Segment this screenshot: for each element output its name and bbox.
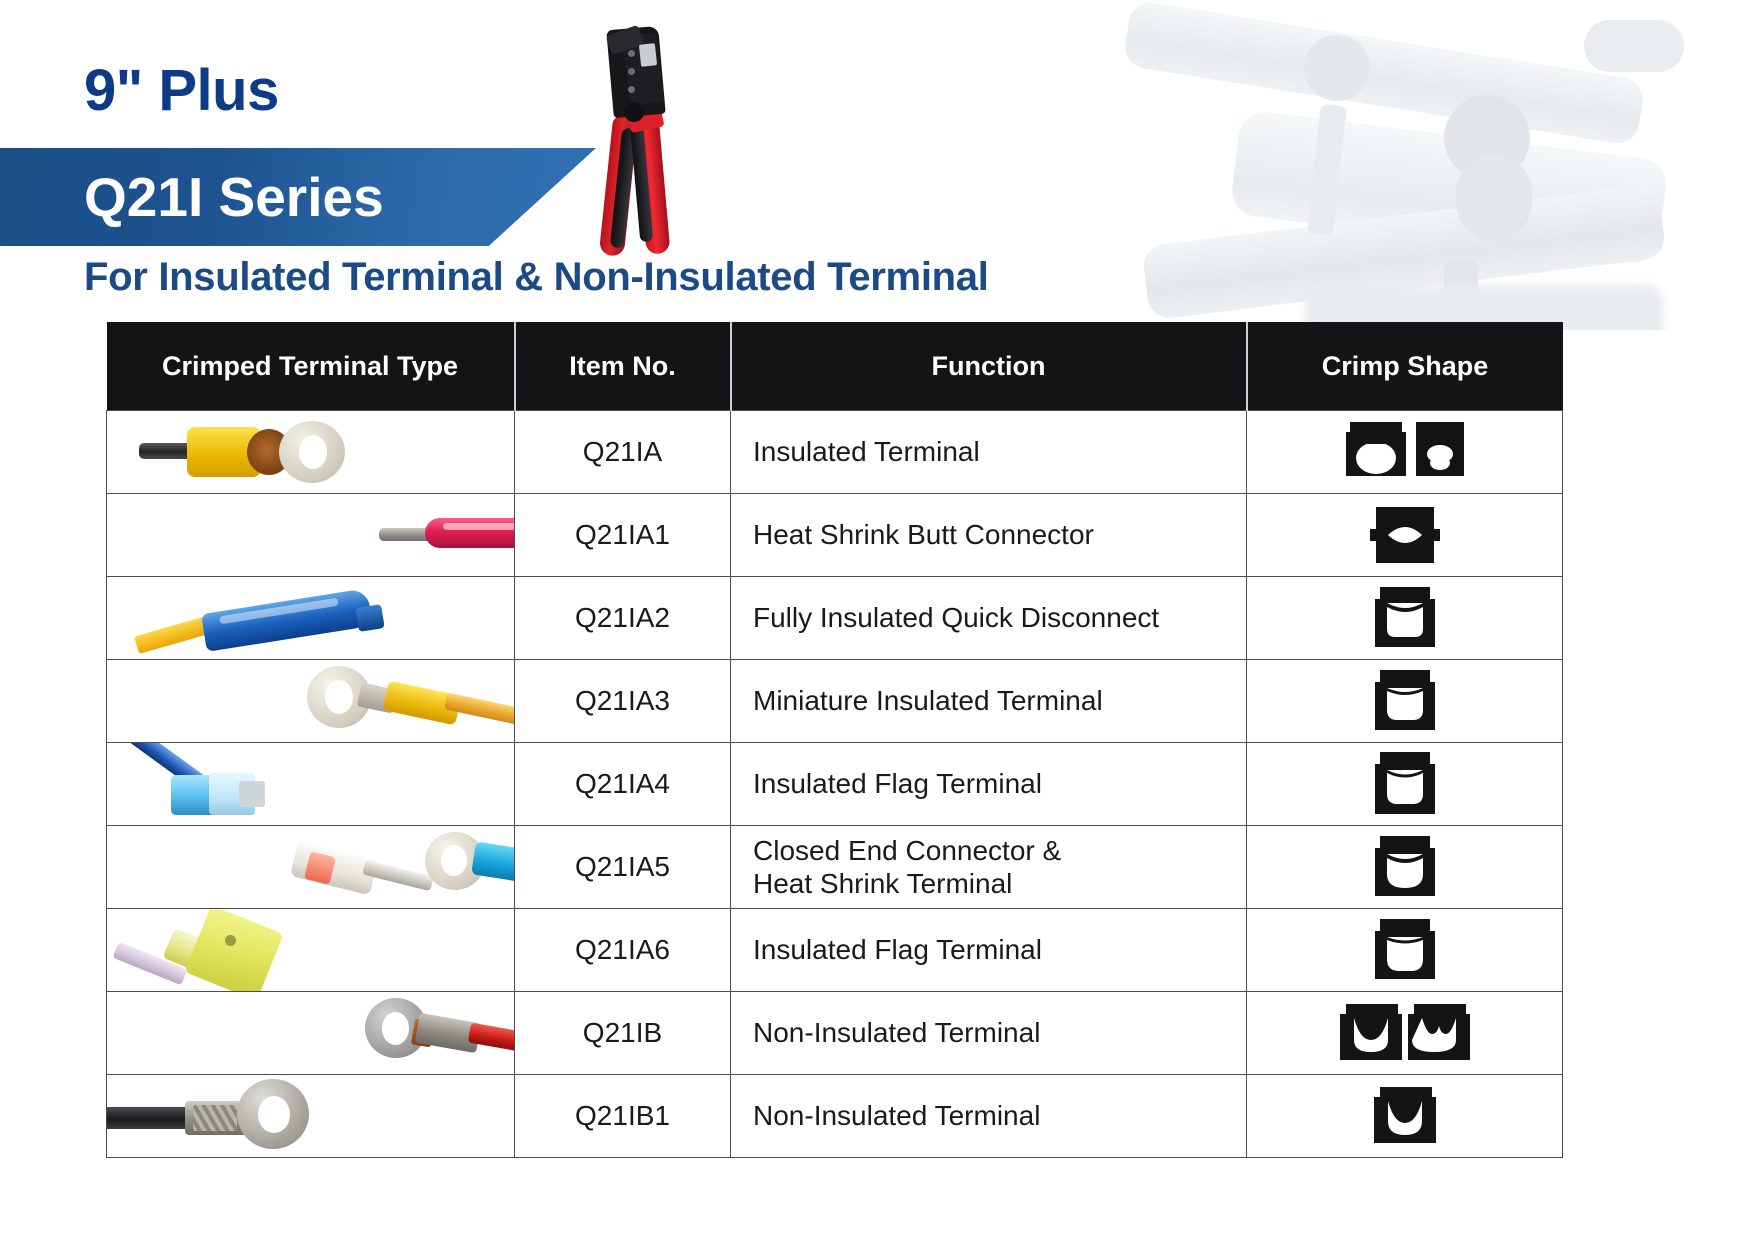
item-number: Q21IA2 — [515, 577, 731, 660]
tool-pivot — [624, 102, 644, 122]
function-text: Non-Insulated Terminal — [731, 1075, 1247, 1158]
crimp-shape-icon-double-w-a — [1340, 1004, 1402, 1062]
item-number: Q21IA4 — [515, 743, 731, 826]
function-text: Heat Shrink Butt Connector — [731, 494, 1247, 577]
function-line-1: Insulated Flag Terminal — [753, 934, 1042, 965]
crimp-shape-icon-single-w — [1374, 1087, 1436, 1145]
tool-label-sticker — [639, 43, 657, 67]
watermark-knob — [1444, 95, 1530, 181]
table-row: Q21IA2 Fully Insulated Quick Disconnect — [107, 577, 1563, 660]
function-text: Non-Insulated Terminal — [731, 992, 1247, 1075]
crimp-shape-icon-double-u-a — [1344, 422, 1408, 482]
function-line-1: Non-Insulated Terminal — [753, 1017, 1040, 1048]
crimp-shape-icon-single-u-wide — [1375, 587, 1435, 649]
red-heat-shrink-butt-connector — [207, 498, 515, 564]
watermark-plate — [1229, 109, 1669, 266]
specification-table: Crimped Terminal Type Item No. Function … — [106, 322, 1563, 1158]
function-text: Insulated Flag Terminal — [731, 909, 1247, 992]
crimp-shape-cell — [1247, 1075, 1563, 1158]
non-insulated-ring-terminal-red-wire — [107, 994, 515, 1070]
function-text: Fully Insulated Quick Disconnect — [731, 577, 1247, 660]
function-line-1: Fully Insulated Quick Disconnect — [753, 602, 1159, 633]
table-row: Q21IA3 Miniature Insulated Terminal — [107, 660, 1563, 743]
crimp-shape-cell — [1247, 411, 1563, 494]
item-number: Q21IB1 — [515, 1075, 731, 1158]
non-insulated-ring-terminal-black-wire — [107, 1077, 342, 1153]
yellow-miniature-ring-terminal — [107, 660, 515, 736]
column-header-function: Function — [731, 322, 1247, 411]
terminal-photo-cell — [107, 494, 515, 577]
item-number: Q21IA1 — [515, 494, 731, 577]
tool-screw-icon — [628, 68, 635, 75]
table-row: Q21IB Non-Insulated Terminal — [107, 992, 1563, 1075]
crimping-tool-photo — [588, 28, 696, 250]
crimp-shape-icon-double-u-b — [1414, 422, 1466, 482]
function-line-1: Heat Shrink Butt Connector — [753, 519, 1094, 550]
terminal-photo-cell — [107, 909, 515, 992]
yellow-insulated-ring-terminal — [129, 413, 369, 489]
watermark-jaw-lower — [1141, 184, 1666, 321]
column-header-crimp-shape: Crimp Shape — [1247, 322, 1563, 411]
function-line-1: Non-Insulated Terminal — [753, 1100, 1040, 1131]
function-line-1: Insulated Terminal — [753, 436, 980, 467]
tool-screw-icon — [628, 86, 635, 93]
crimp-shape-cell — [1247, 494, 1563, 577]
crimp-shape-icon-lens-oval — [1370, 505, 1440, 565]
function-line-2: Heat Shrink Terminal — [753, 867, 1245, 900]
crimp-shape-cell — [1247, 826, 1563, 909]
blue-insulated-flag-terminal — [113, 745, 293, 819]
crimp-shape-icon-single-u-square — [1375, 919, 1435, 981]
terminal-photo-cell — [107, 1075, 515, 1158]
yellow-insulated-flag-terminal — [111, 909, 311, 992]
crimp-shape-icon-single-u-flat — [1375, 670, 1435, 732]
watermark-jaw-upper — [1122, 0, 1646, 146]
crimp-shape-icon-double-w-b — [1408, 1004, 1470, 1062]
watermark-knob — [1584, 20, 1684, 72]
crimp-shape-cell — [1247, 743, 1563, 826]
item-number: Q21IA3 — [515, 660, 731, 743]
page-title: 9" Plus — [84, 62, 279, 120]
terminal-photo-cell — [107, 743, 515, 826]
column-header-crimped-terminal-type: Crimped Terminal Type — [107, 322, 515, 411]
crimp-shape-cell — [1247, 992, 1563, 1075]
table-row: Q21IA Insulated Terminal — [107, 411, 1563, 494]
table-row: Q21IB1 Non-Insulated Terminal — [107, 1075, 1563, 1158]
function-line-1: Closed End Connector & — [753, 834, 1245, 867]
crimp-shape-cell — [1247, 577, 1563, 660]
item-number: Q21IA — [515, 411, 731, 494]
watermark-bar — [1444, 260, 1478, 330]
watermark-knob — [1304, 35, 1370, 101]
function-line-1: Miniature Insulated Terminal — [753, 685, 1103, 716]
page-subtitle: For Insulated Terminal & Non-Insulated T… — [84, 255, 989, 300]
closed-end-connector-and-heat-shrink-ring — [137, 828, 515, 906]
item-number: Q21IA5 — [515, 826, 731, 909]
watermark-bar — [1307, 104, 1346, 236]
item-number: Q21IA6 — [515, 909, 731, 992]
watermark-knob — [1456, 155, 1532, 241]
table-row: Q21IA6 Insulated Flag Terminal — [107, 909, 1563, 992]
terminal-photo-cell — [107, 411, 515, 494]
terminal-photo-cell — [107, 992, 515, 1075]
table-row: Q21IA5 Closed End Connector & Heat Shrin… — [107, 826, 1563, 909]
series-label: Q21I Series — [84, 158, 384, 238]
tool-screw-icon — [628, 50, 635, 57]
function-text: Miniature Insulated Terminal — [731, 660, 1247, 743]
terminal-photo-cell — [107, 577, 515, 660]
terminal-photo-cell — [107, 826, 515, 909]
table-row: Q21IA1 Heat Shrink Butt Connector — [107, 494, 1563, 577]
crimp-shape-icon-single-u-tall — [1375, 752, 1435, 816]
table-header-row: Crimped Terminal Type Item No. Function … — [107, 322, 1563, 411]
function-text: Closed End Connector & Heat Shrink Termi… — [731, 826, 1247, 909]
crimp-shape-cell — [1247, 909, 1563, 992]
terminal-photo-cell — [107, 660, 515, 743]
item-number: Q21IB — [515, 992, 731, 1075]
blue-quick-disconnect — [107, 579, 407, 653]
crimp-shape-cell — [1247, 660, 1563, 743]
function-text: Insulated Flag Terminal — [731, 743, 1247, 826]
function-text: Insulated Terminal — [731, 411, 1247, 494]
crimp-shape-icon-single-u-round — [1375, 836, 1435, 898]
crimp-jaw-watermark — [974, 0, 1754, 330]
column-header-item-no: Item No. — [515, 322, 731, 411]
function-line-1: Insulated Flag Terminal — [753, 768, 1042, 799]
table-row: Q21IA4 Insulated Flag Terminal — [107, 743, 1563, 826]
